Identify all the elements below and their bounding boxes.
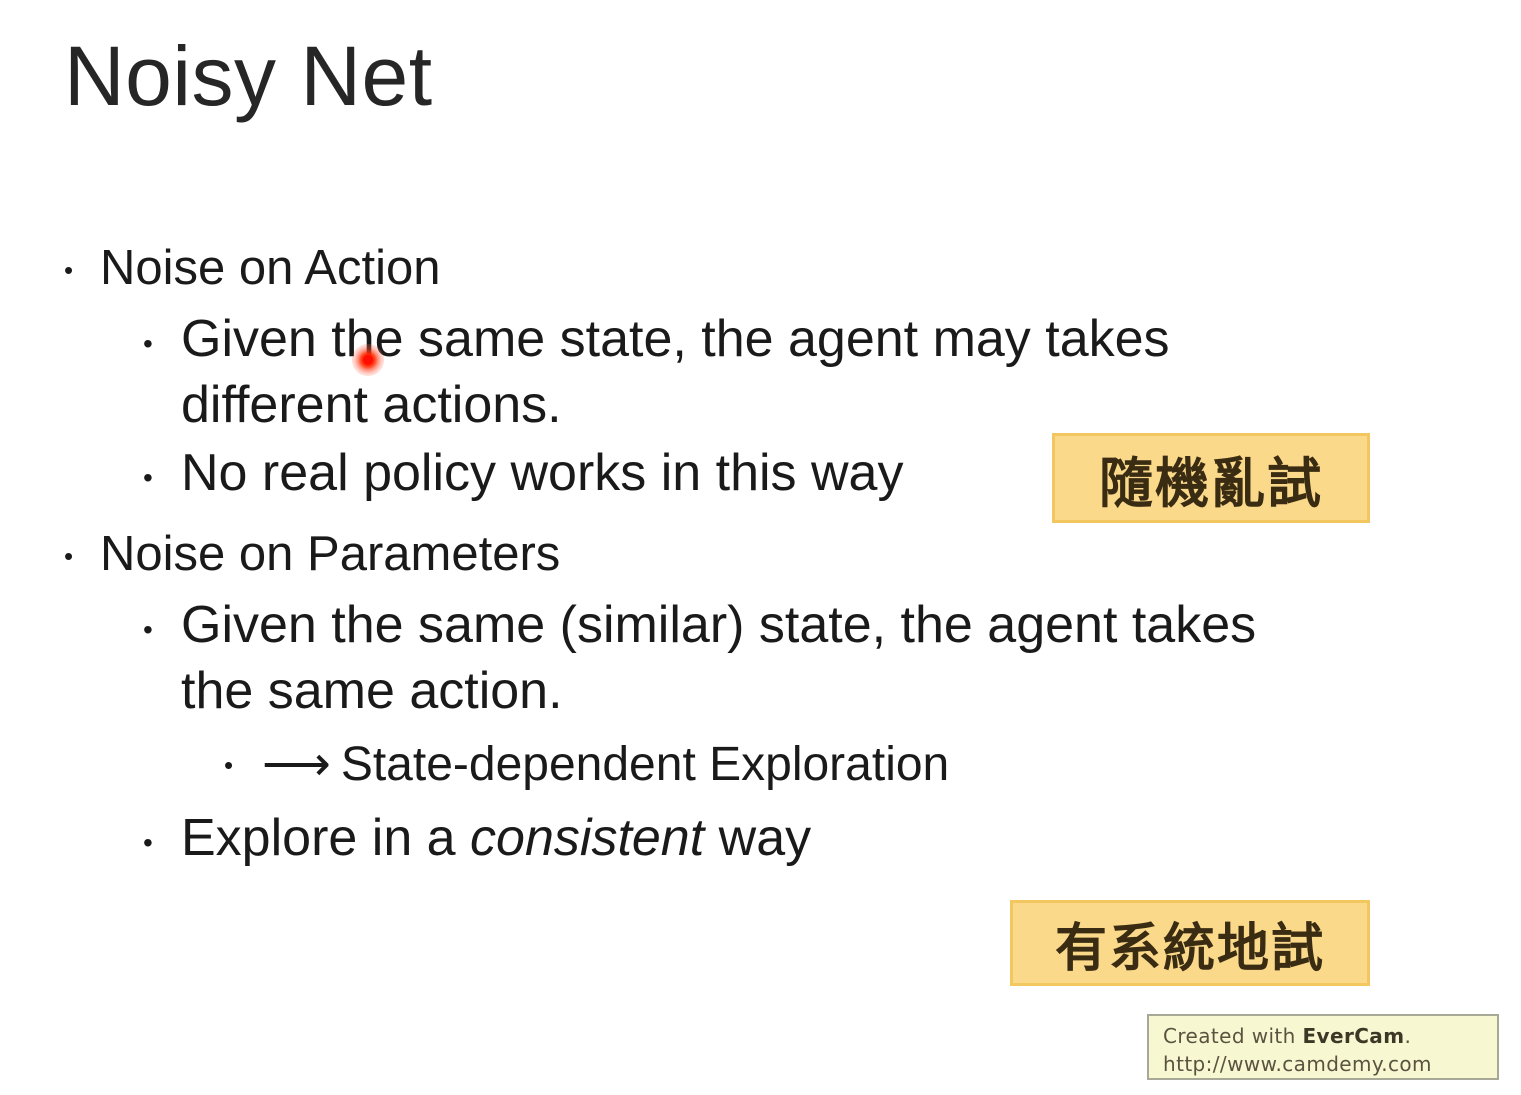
- slide-body: • Noise on Action • Given the same state…: [0, 236, 1400, 873]
- callout-random-trial: 隨機亂試: [1052, 433, 1370, 523]
- bullet-marker-icon: •: [143, 616, 153, 644]
- watermark-suffix: .: [1404, 1024, 1411, 1048]
- watermark-brand: EverCam: [1303, 1024, 1405, 1048]
- spacer: [0, 797, 1400, 805]
- bullet-text-before: Explore in a: [181, 809, 470, 867]
- slide-title: Noisy Net: [64, 34, 433, 118]
- bullet-marker-icon: •: [64, 543, 73, 569]
- bullet-marker-icon: •: [143, 829, 153, 857]
- bullet-text: Explore in a consistent way: [181, 805, 1286, 871]
- bullet-given-same-state: • Given the same state, the agent may ta…: [0, 306, 1400, 438]
- bullet-state-dependent-exploration: • ⟶State-dependent Exploration: [0, 734, 1400, 795]
- bullet-noise-on-parameters: • Noise on Parameters: [0, 522, 1400, 586]
- watermark-line-1: Created with EverCam.: [1163, 1022, 1485, 1050]
- bullet-explore-consistent-way: • Explore in a consistent way: [0, 805, 1400, 871]
- bullet-text-emphasis: consistent: [470, 809, 704, 867]
- bullet-text: Given the same state, the agent may take…: [181, 306, 1286, 438]
- bullet-text: Noise on Parameters: [100, 522, 1400, 586]
- bullet-marker-icon: •: [143, 330, 153, 358]
- bullet-text: Noise on Action: [100, 236, 1400, 300]
- spacer: [0, 726, 1400, 734]
- bullet-marker-icon: •: [64, 257, 73, 283]
- bullet-text-after: way: [704, 809, 811, 867]
- evercam-watermark: Created with EverCam. http://www.camdemy…: [1147, 1014, 1499, 1080]
- right-arrow-icon: ⟶: [262, 734, 341, 794]
- bullet-given-same-similar-state: • Given the same (similar) state, the ag…: [0, 592, 1400, 724]
- bullet-noise-on-action: • Noise on Action: [0, 236, 1400, 300]
- bullet-text-label: State-dependent Exploration: [341, 738, 949, 791]
- bullet-text: ⟶State-dependent Exploration: [262, 734, 1400, 795]
- bullet-marker-icon: •: [224, 752, 233, 778]
- watermark-prefix: Created with: [1163, 1024, 1303, 1048]
- presentation-slide: Noisy Net • Noise on Action • Given the …: [0, 0, 1521, 1095]
- watermark-url: http://www.camdemy.com: [1163, 1050, 1485, 1078]
- callout-systematic-trial: 有系統地試: [1010, 900, 1370, 986]
- bullet-marker-icon: •: [143, 464, 153, 492]
- bullet-text: Given the same (similar) state, the agen…: [181, 592, 1286, 724]
